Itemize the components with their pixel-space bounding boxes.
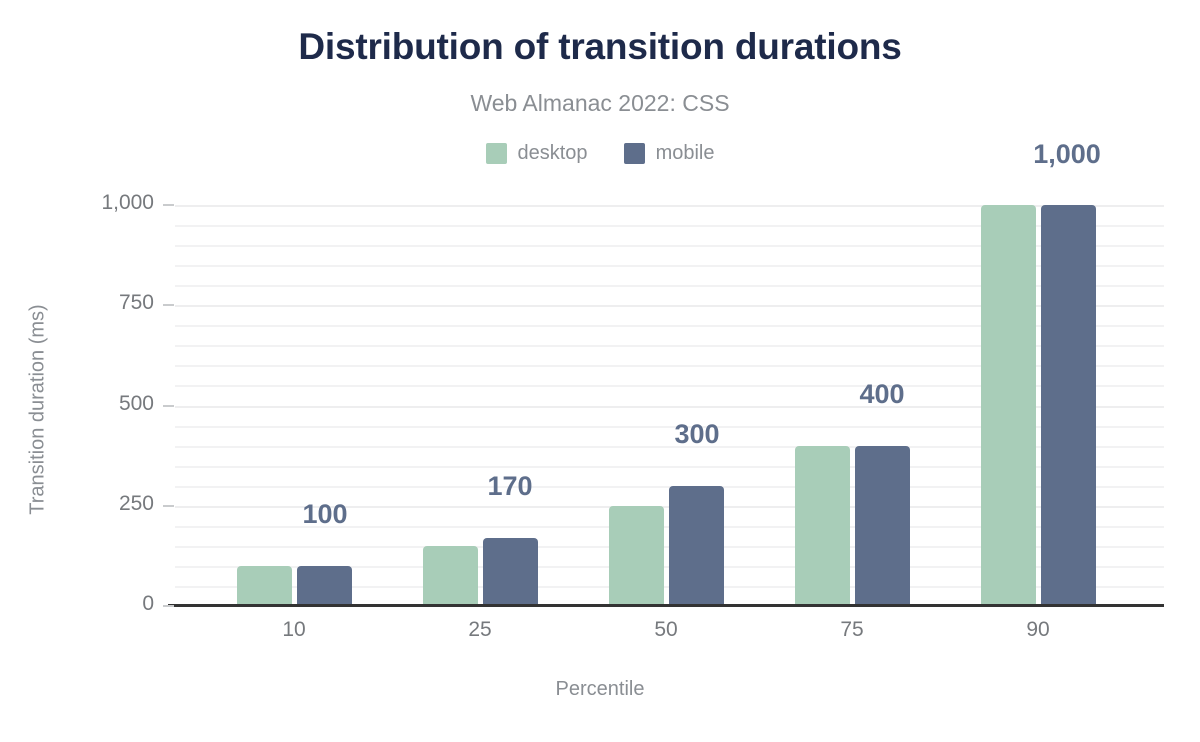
- bar-mobile-p75[interactable]: [855, 446, 910, 606]
- y-tick-mark-250: [163, 505, 174, 507]
- x-tick-label-50: 50: [586, 618, 746, 642]
- bar-value-label-p90: 1,000: [1007, 139, 1127, 170]
- bar-desktop-p25[interactable]: [423, 546, 478, 606]
- y-tick-label-500: 500: [68, 392, 154, 416]
- plot-area: [175, 205, 1164, 606]
- legend-item-mobile[interactable]: mobile: [624, 142, 715, 165]
- bar-value-label-p75: 400: [822, 379, 942, 410]
- bar-desktop-p90[interactable]: [981, 205, 1036, 606]
- x-axis-line: [168, 604, 1164, 607]
- legend-swatch-desktop: [486, 143, 507, 164]
- legend-label-mobile: mobile: [656, 142, 715, 165]
- x-tick-label-75: 75: [772, 618, 932, 642]
- y-tick-mark-0: [163, 605, 174, 607]
- bar-chart-figure: Distribution of transition durations Web…: [0, 0, 1200, 742]
- legend-swatch-mobile: [624, 143, 645, 164]
- bar-desktop-p10[interactable]: [237, 566, 292, 606]
- bar-value-label-p50: 300: [637, 419, 757, 450]
- x-tick-label-10: 10: [214, 618, 374, 642]
- chart-subtitle: Web Almanac 2022: CSS: [0, 90, 1200, 117]
- legend-item-desktop[interactable]: desktop: [486, 142, 588, 165]
- y-tick-label-0: 0: [68, 592, 154, 616]
- bar-desktop-p50[interactable]: [609, 506, 664, 606]
- y-tick-label-750: 750: [68, 291, 154, 315]
- y-tick-label-1000: 1,000: [68, 191, 154, 215]
- bar-mobile-p50[interactable]: [669, 486, 724, 606]
- y-tick-mark-500: [163, 405, 174, 407]
- bar-value-label-p25: 170: [450, 471, 570, 502]
- y-axis-title: Transition duration (ms): [27, 230, 50, 590]
- bar-desktop-p75[interactable]: [795, 446, 850, 606]
- x-axis-title: Percentile: [0, 678, 1200, 701]
- bar-value-label-p10: 100: [265, 499, 385, 530]
- x-tick-label-25: 25: [400, 618, 560, 642]
- bar-mobile-p90[interactable]: [1041, 205, 1096, 606]
- y-tick-label-250: 250: [68, 492, 154, 516]
- bar-mobile-p25[interactable]: [483, 538, 538, 606]
- x-tick-label-90: 90: [958, 618, 1118, 642]
- y-tick-mark-1000: [163, 204, 174, 206]
- y-tick-mark-750: [163, 304, 174, 306]
- legend-label-desktop: desktop: [518, 142, 588, 165]
- bar-mobile-p10[interactable]: [297, 566, 352, 606]
- chart-title: Distribution of transition durations: [0, 26, 1200, 68]
